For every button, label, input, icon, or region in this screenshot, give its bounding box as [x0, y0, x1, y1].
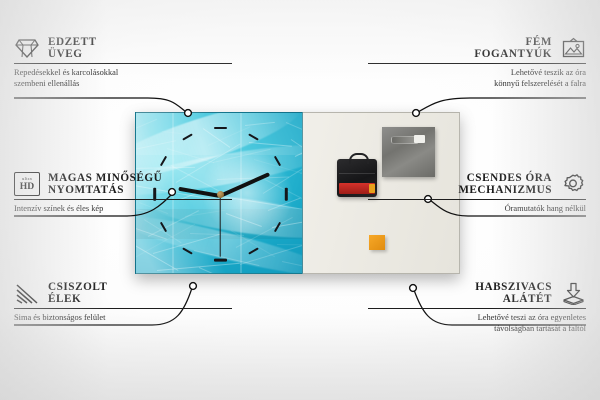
- feature-description: Lehetővé teszi az óra egyenletes távolsá…: [368, 312, 586, 334]
- feature-title-line: MAGAS MINŐSÉGŰ: [48, 172, 162, 184]
- divider: [368, 199, 586, 200]
- diamond-icon: [14, 36, 40, 60]
- feature-title-line: CSISZOLT: [48, 281, 107, 293]
- feature-title-line: FÉM: [525, 36, 552, 48]
- divider: [14, 308, 232, 309]
- metal-hanger-plate: [382, 127, 435, 177]
- movement-hanger-loop: [349, 153, 369, 164]
- divider: [14, 199, 232, 200]
- feature-description: Lehetővé teszik az óra könnyű felszerelé…: [368, 67, 586, 89]
- feature-high-quality-print: ultra HD MAGAS MINŐSÉGŰ NYOMTATÁS Intenz…: [14, 172, 232, 214]
- clock-hour-marker: [214, 259, 227, 262]
- feather-strand: [199, 267, 272, 274]
- feature-title-line: ÜVEG: [48, 48, 83, 60]
- feature-title-line: ÉLEK: [48, 293, 81, 305]
- feature-title-line: FOGANTYÚK: [474, 48, 552, 60]
- feature-metal-handles: FÉM FOGANTYÚK Lehetővé teszik az óra kön…: [368, 36, 586, 89]
- leader-line-tempered-glass: [14, 98, 186, 112]
- infographic-canvas: EDZETT ÜVEG Repedésekkel és karcolásokka…: [0, 0, 600, 400]
- leader-line-handles: [418, 98, 586, 112]
- foam-spacer-pad: [369, 235, 385, 250]
- feature-description: Repedésekkel és karcolásokkal szembeni e…: [14, 67, 232, 89]
- feature-foam-pad: HABSZIVACS ALÁTÉT Lehetővé teszi az óra …: [368, 281, 586, 334]
- feature-title-line: HABSZIVACS: [475, 281, 552, 293]
- divider: [368, 308, 586, 309]
- feature-description: Óramutatók hang nélkül: [368, 203, 586, 214]
- feature-title-line: NYOMTATÁS: [48, 184, 124, 196]
- hanger-slot-highlight: [414, 135, 425, 143]
- ultra-hd-badge-icon: ultra HD: [14, 172, 40, 196]
- framed-picture-hanger-icon: [560, 36, 586, 60]
- feature-silent-mechanism: CSENDES ÓRA MECHANIZMUS Óramutatók hang …: [368, 172, 586, 214]
- foam-pad-arrow-icon: [560, 281, 586, 305]
- feature-title-line: EDZETT: [48, 36, 97, 48]
- feature-tempered-glass: EDZETT ÜVEG Repedésekkel és karcolásokka…: [14, 36, 232, 89]
- feature-title-line: MECHANIZMUS: [458, 184, 552, 196]
- feature-polished-edges: CSISZOLT ÉLEK Sima és biztonságos felüle…: [14, 281, 232, 323]
- ultra-hd-large-text: HD: [20, 182, 34, 192]
- feature-description: Intenzív színek és éles kép: [14, 203, 232, 214]
- polished-edges-icon: [14, 281, 40, 305]
- divider: [368, 63, 586, 64]
- divider: [14, 63, 232, 64]
- clock-hour-marker: [285, 187, 288, 200]
- feature-description: Sima és biztonságos felület: [14, 312, 232, 323]
- feature-title-line: ALÁTÉT: [503, 293, 552, 305]
- feature-title-line: CSENDES ÓRA: [467, 172, 552, 184]
- gear-icon: [560, 172, 586, 196]
- clock-hour-marker: [214, 127, 227, 130]
